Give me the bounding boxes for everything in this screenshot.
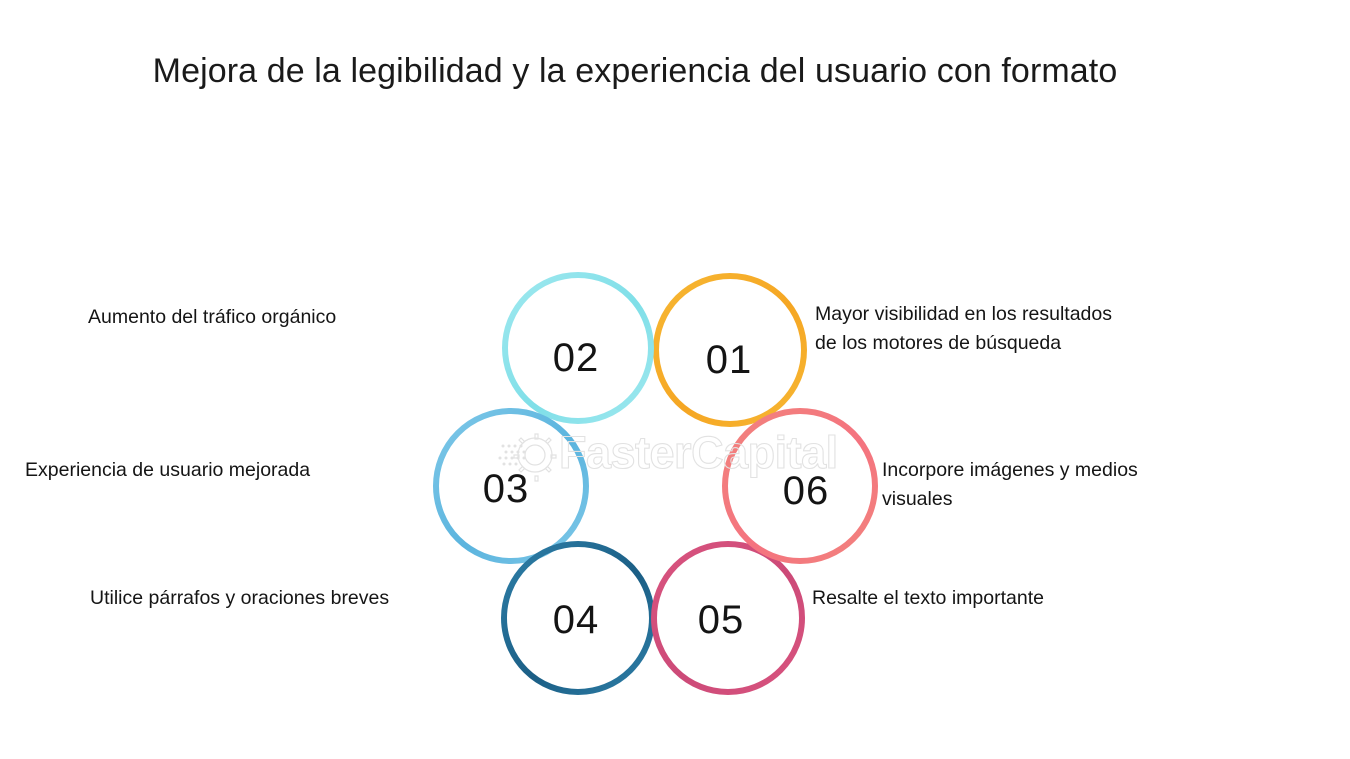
ring-number-01: 01 — [706, 340, 753, 380]
infographic-canvas: Mejora de la legibilidad y la experienci… — [0, 0, 1350, 759]
circles-diagram: FasterCapital 01Mayor visibilidad en los… — [0, 0, 1350, 759]
rings-svg — [0, 0, 1350, 759]
ring-label-04: Utilice párrafos y oraciones breves — [90, 584, 389, 613]
ring-number-03: 03 — [483, 469, 530, 509]
ring-label-line: Mayor visibilidad en los resultados — [815, 300, 1112, 329]
ring-label-line: Utilice párrafos y oraciones breves — [90, 584, 389, 613]
ring-label-line: de los motores de búsqueda — [815, 329, 1112, 358]
ring-label-line: Experiencia de usuario mejorada — [25, 456, 310, 485]
ring-number-02: 02 — [553, 338, 600, 378]
ring-label-01: Mayor visibilidad en los resultadosde lo… — [815, 300, 1112, 358]
ring-label-line: Incorpore imágenes y medios — [882, 456, 1138, 485]
ring-label-line: Resalte el texto importante — [812, 584, 1044, 613]
ring-label-02: Aumento del tráfico orgánico — [88, 303, 336, 332]
ring-label-line: visuales — [882, 485, 1138, 514]
ring-label-06: Incorpore imágenes y mediosvisuales — [882, 456, 1138, 514]
ring-number-05: 05 — [698, 600, 745, 640]
ring-label-line: Aumento del tráfico orgánico — [88, 303, 336, 332]
ring-number-04: 04 — [553, 600, 600, 640]
ring-label-03: Experiencia de usuario mejorada — [25, 456, 310, 485]
ring-label-05: Resalte el texto importante — [812, 584, 1044, 613]
ring-number-06: 06 — [783, 471, 830, 511]
